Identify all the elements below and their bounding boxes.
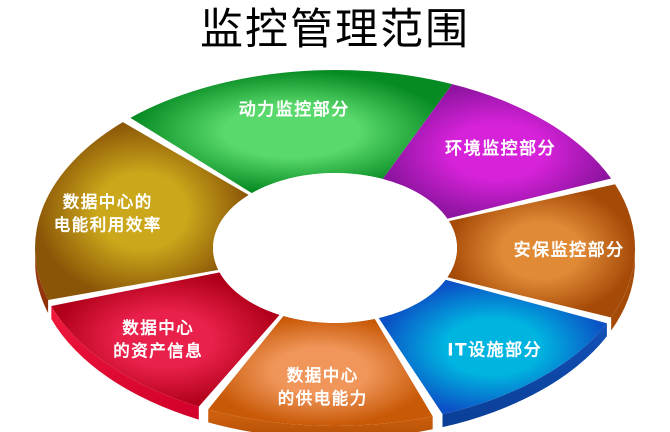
segment-label-line: 数据中心 [287, 365, 359, 385]
segment-label-security-monitoring: 安保监控部分 [514, 239, 625, 260]
segment-label-line: IT设施部分 [447, 339, 542, 360]
segment-label-line: 的资产信息 [113, 340, 203, 360]
segment-label-line: 动力监控部分 [239, 99, 350, 120]
segment-label-it-facility: IT设施部分 [447, 339, 542, 360]
segment-label-line: 电能利用效率 [54, 214, 162, 234]
segment-label-line: 的供电能力 [278, 388, 368, 408]
segment-label-environment-monitoring: 环境监控部分 [445, 138, 556, 159]
segment-label-power-monitoring: 动力监控部分 [239, 99, 350, 120]
segment-label-line: 数据中心 [122, 317, 194, 337]
segment-label-line: 安保监控部分 [514, 239, 625, 260]
donut-center-hole [213, 173, 457, 323]
diagram-canvas: 监控管理范围 [0, 0, 670, 432]
segment-label-line: 数据中心的 [63, 191, 153, 211]
donut-chart: 环境监控部分安保监控部分IT设施部分数据中心的供电能力数据中心的资产信息数据中心… [0, 0, 670, 432]
segment-label-line: 环境监控部分 [445, 138, 556, 159]
